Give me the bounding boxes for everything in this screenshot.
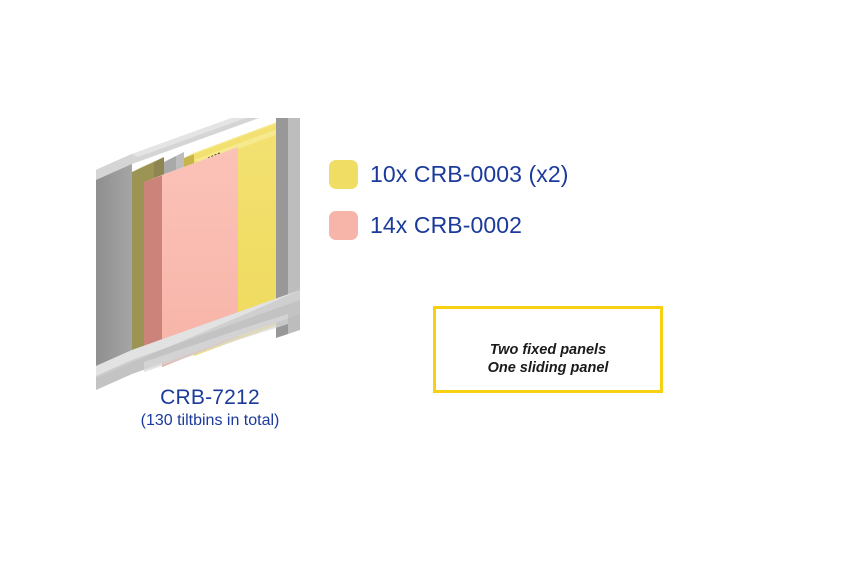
note-line-2: One sliding panel (488, 359, 609, 378)
note-line-1: Two fixed panels (488, 341, 609, 360)
legend-item-crb-0003: 10x CRB-0003 (x2) (329, 159, 569, 189)
cabinet-svg (88, 118, 328, 393)
legend-item-crb-0002: 14x CRB-0002 (329, 210, 569, 240)
panel-legend: 10x CRB-0003 (x2) 14x CRB-0002 (329, 159, 569, 261)
product-caption: CRB-7212 (130 tiltbins in total) (90, 386, 330, 431)
product-subtitle: (130 tiltbins in total) (90, 412, 330, 431)
note-callout-box: Two fixed panels One sliding panel (433, 306, 663, 393)
yellow-panel-swatch (329, 160, 358, 189)
pink-panel-swatch (329, 211, 358, 240)
product-code: CRB-7212 (90, 386, 330, 411)
cabinet-illustration (88, 118, 328, 393)
note-text: Two fixed panels One sliding panel (488, 341, 609, 390)
legend-label-crb-0002: 14x CRB-0002 (370, 212, 522, 239)
page-canvas: CRB-7212 (130 tiltbins in total) 10x CRB… (0, 0, 850, 567)
cabinet-left-wall (96, 154, 132, 376)
legend-label-crb-0003: 10x CRB-0003 (x2) (370, 161, 569, 188)
